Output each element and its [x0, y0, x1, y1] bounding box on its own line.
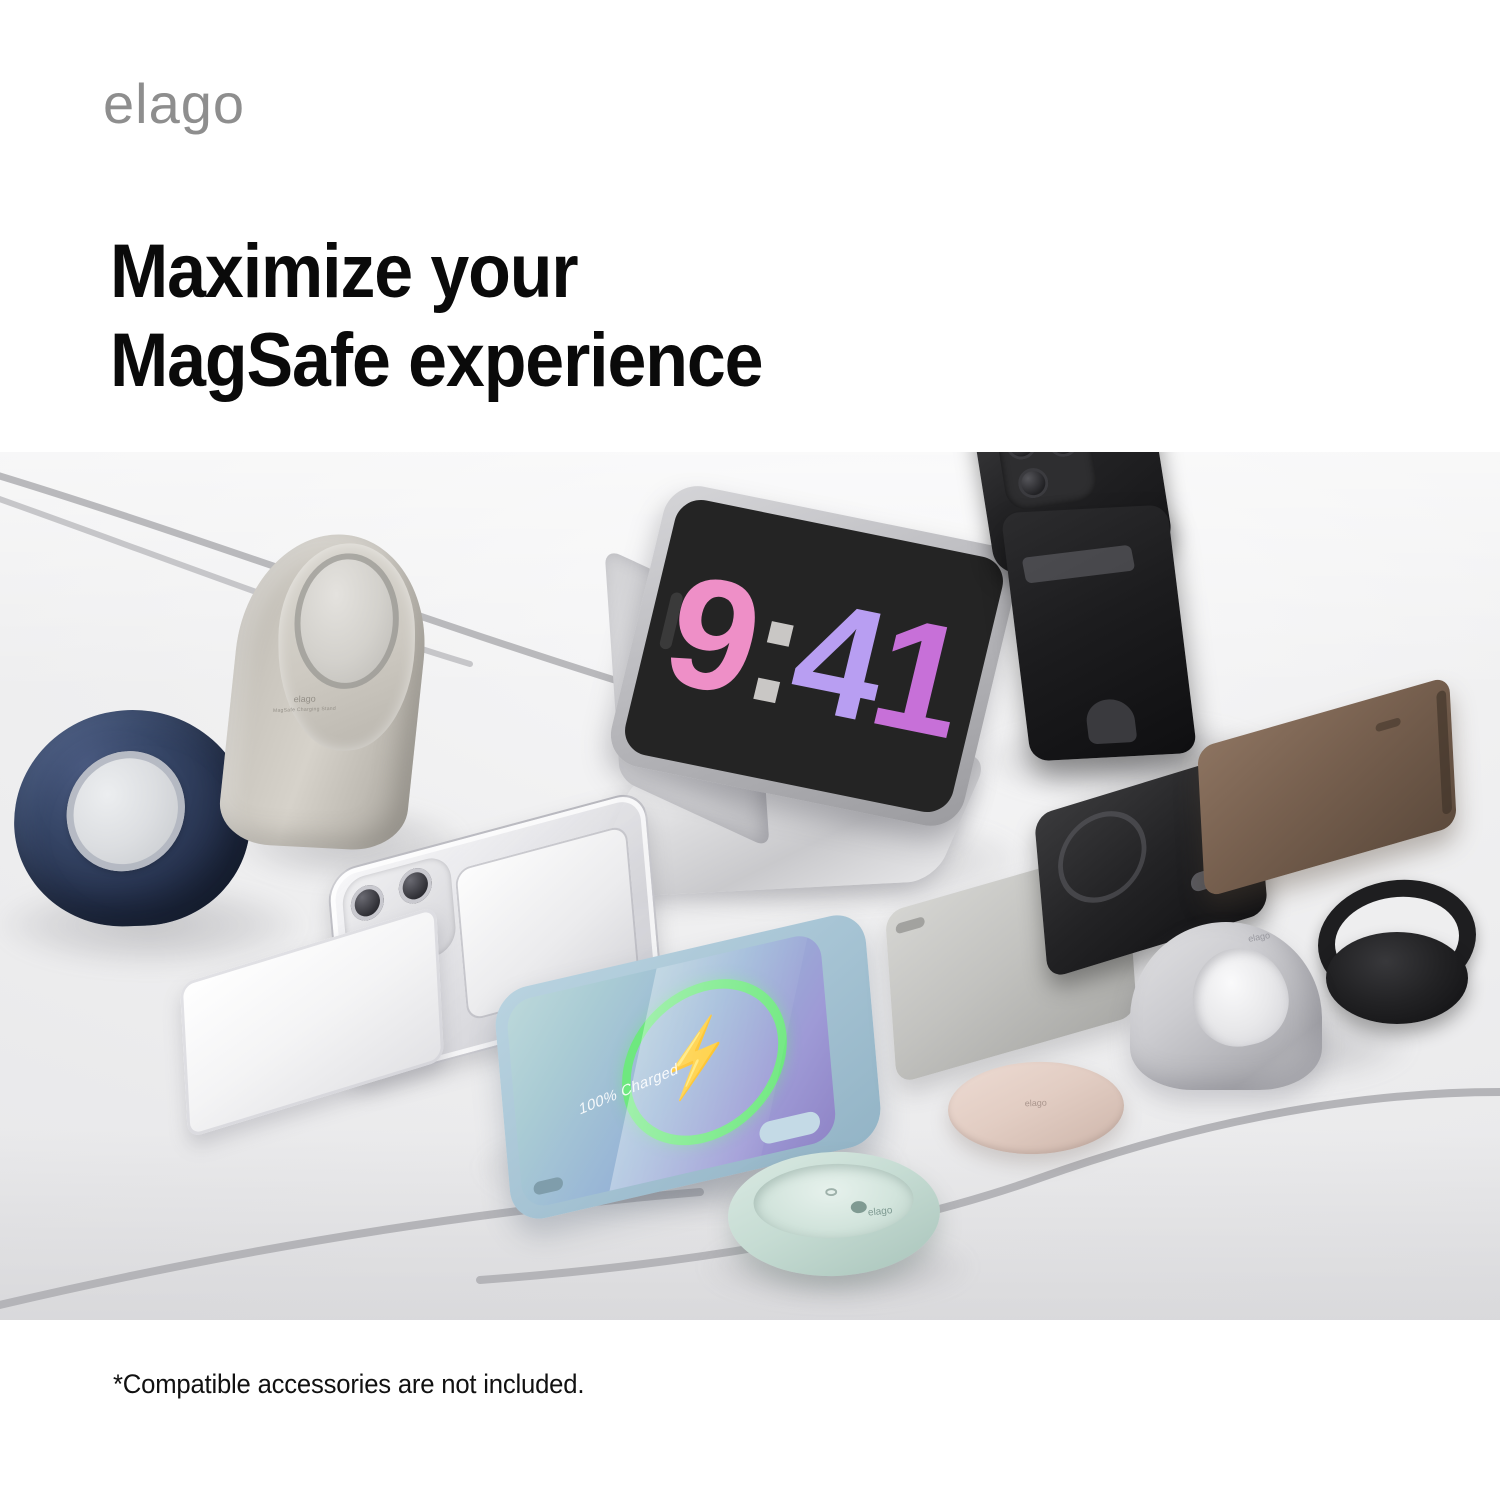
- page-title: Maximize your MagSafe experience: [110, 228, 762, 406]
- camera-lens-icon: [1016, 466, 1050, 500]
- wallet-fold: [1436, 689, 1452, 815]
- tray-well: [752, 1161, 914, 1241]
- elago-emboss: elago: [948, 1095, 1124, 1111]
- camera-lens-icon: [397, 864, 433, 907]
- led-indicator-icon: [825, 1188, 837, 1196]
- product-marketing-banner: elago Maximize your MagSafe experience: [0, 0, 1500, 1500]
- gray-watch-dome-stand: elago: [1130, 922, 1322, 1090]
- black-grip-ring: [1310, 880, 1486, 1036]
- brand-mark: [1375, 717, 1400, 732]
- wallet-body: [1001, 505, 1198, 762]
- magsafe-pad: [294, 551, 398, 692]
- card-slot: [1022, 545, 1136, 584]
- magsafe-ring: [1054, 800, 1150, 914]
- thumb-cutout: [1084, 698, 1137, 744]
- camera-lens-icon: [1046, 452, 1080, 459]
- holder-notch: [895, 916, 925, 934]
- magsafe-pad: [56, 737, 196, 886]
- standby-clock: 9:41: [632, 546, 996, 766]
- camera-lens-icon: [1004, 452, 1038, 462]
- elago-emboss: elago MagSafe Charging Stand: [260, 691, 349, 715]
- elago-brand-logo: elago: [103, 76, 245, 132]
- disclaimer-footnote: *Compatible accessories are not included…: [113, 1369, 584, 1400]
- black-wallet-stand: [972, 452, 1232, 752]
- camera-module: [995, 452, 1100, 512]
- ring-base-disc: [1326, 932, 1468, 1024]
- product-photo: elago MagSafe Charging Stand 9:41: [0, 452, 1500, 1320]
- stand-face: [278, 540, 415, 754]
- camera-lens-icon: [349, 881, 385, 924]
